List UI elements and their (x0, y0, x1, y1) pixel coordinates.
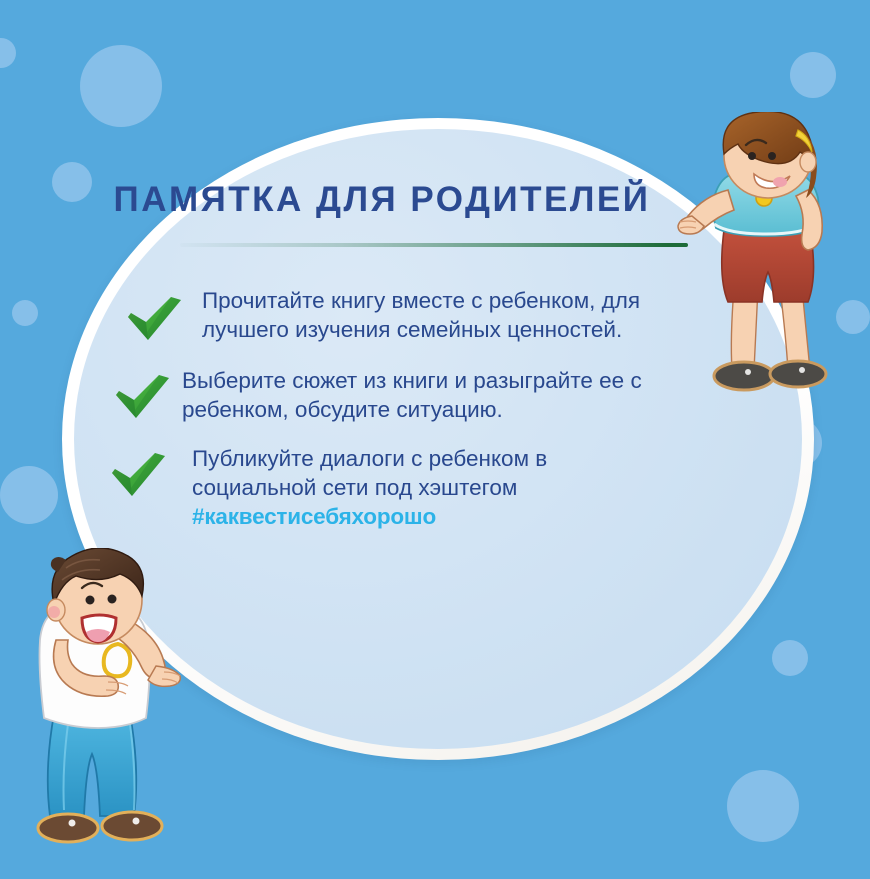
background-bubble (790, 52, 836, 98)
girl-illustration (676, 112, 870, 432)
list-item-body: Публикуйте диалоги с ребенком в социальн… (192, 446, 547, 500)
poster: ПАМЯТКА ДЛЯ РОДИТЕЛЕЙ (0, 0, 870, 879)
title-divider (180, 243, 688, 247)
background-bubble (0, 38, 16, 68)
background-bubble (80, 45, 162, 127)
list-item-text: Публикуйте диалоги с ребенком в социальн… (192, 444, 672, 531)
list-item-body: Прочитайте книгу вместе с ребенком, для … (202, 288, 640, 342)
background-bubble (0, 466, 58, 524)
list-item-text: Выберите сюжет из книги и разыграйте ее … (182, 366, 662, 424)
boy-illustration (6, 548, 206, 874)
green-check-icon (108, 448, 170, 508)
background-bubble (727, 770, 799, 842)
green-check-icon (124, 292, 186, 352)
list-item-body: Выберите сюжет из книги и разыграйте ее … (182, 368, 642, 422)
hashtag-link[interactable]: #каквестисебяхорошо (192, 502, 672, 531)
list-item-text: Прочитайте книгу вместе с ребенком, для … (202, 286, 682, 344)
page-title: ПАМЯТКА ДЛЯ РОДИТЕЛЕЙ (62, 180, 702, 220)
green-check-icon (112, 370, 174, 430)
background-bubble (12, 300, 38, 326)
list-item: Публикуйте диалоги с ребенком в социальн… (62, 444, 814, 531)
